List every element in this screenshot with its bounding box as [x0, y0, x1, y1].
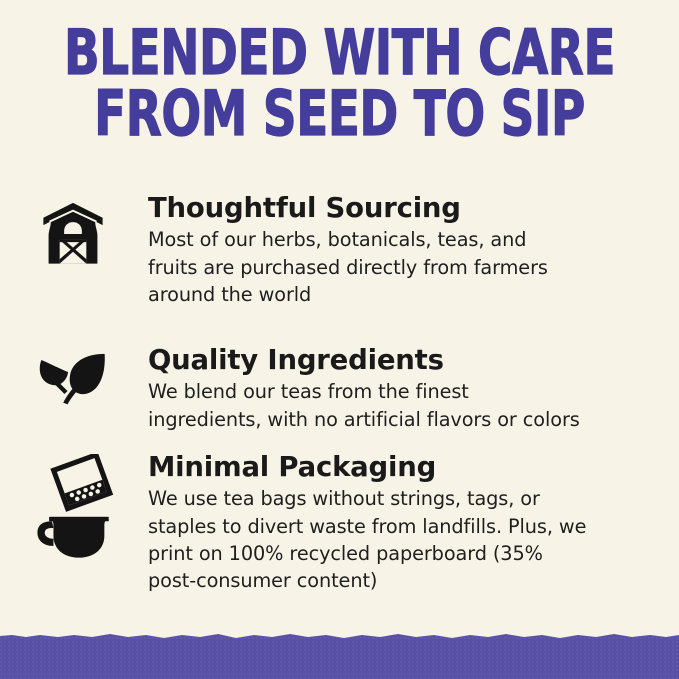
headline-line-1: BLENDED WITH CARE: [54, 24, 624, 83]
feature-title: Quality Ingredients: [148, 345, 636, 375]
feature-title: Minimal Packaging: [148, 452, 636, 482]
headline-line-2: FROM SEED TO SIP: [54, 85, 624, 144]
feature-text-block: Thoughtful Sourcing Most of our herbs, b…: [128, 193, 636, 308]
teabag-mug-icon: [36, 452, 128, 558]
leaves-icon: [36, 345, 128, 405]
feature-quality-ingredients: Quality Ingredients We blend our teas fr…: [36, 345, 636, 433]
barn-icon: [36, 193, 128, 271]
band-texture: [0, 633, 679, 679]
feature-thoughtful-sourcing: Thoughtful Sourcing Most of our herbs, b…: [36, 193, 636, 308]
feature-text-block: Quality Ingredients We blend our teas fr…: [128, 345, 636, 433]
feature-description: We blend our teas from the finest ingred…: [148, 378, 618, 433]
bottom-purple-band: [0, 633, 679, 679]
feature-minimal-packaging: Minimal Packaging We use tea bags withou…: [36, 452, 636, 595]
infographic-page: BLENDED WITH CARE FROM SEED TO SIP: [0, 0, 679, 679]
page-title: BLENDED WITH CARE FROM SEED TO SIP: [0, 24, 679, 144]
feature-text-block: Minimal Packaging We use tea bags withou…: [128, 452, 636, 595]
feature-description: Most of our herbs, botanicals, teas, and…: [148, 226, 618, 308]
feature-title: Thoughtful Sourcing: [148, 193, 636, 223]
feature-description: We use tea bags without strings, tags, o…: [148, 485, 618, 595]
